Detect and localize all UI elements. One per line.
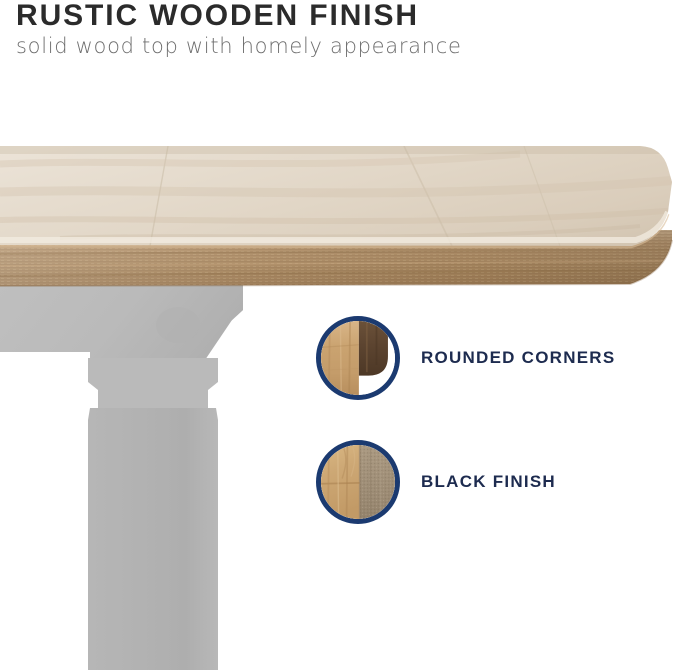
- page-subtitle: solid wood top with homely appearance: [16, 34, 656, 58]
- rounded-corner-swatch-icon: [316, 316, 400, 400]
- page-title: RUSTIC WOODEN FINISH: [16, 0, 656, 32]
- callout-label-black-finish: BLACK FINISH: [421, 472, 556, 492]
- header: RUSTIC WOODEN FINISH solid wood top with…: [16, 0, 656, 58]
- callout-black-finish[interactable]: BLACK FINISH: [316, 440, 556, 524]
- wood-finish-swatch-icon: [316, 440, 400, 524]
- callout-rounded-corners[interactable]: ROUNDED CORNERS: [316, 316, 615, 400]
- product-feature-card: RUSTIC WOODEN FINISH solid wood top with…: [0, 0, 679, 670]
- callout-label-rounded-corners: ROUNDED CORNERS: [421, 348, 615, 368]
